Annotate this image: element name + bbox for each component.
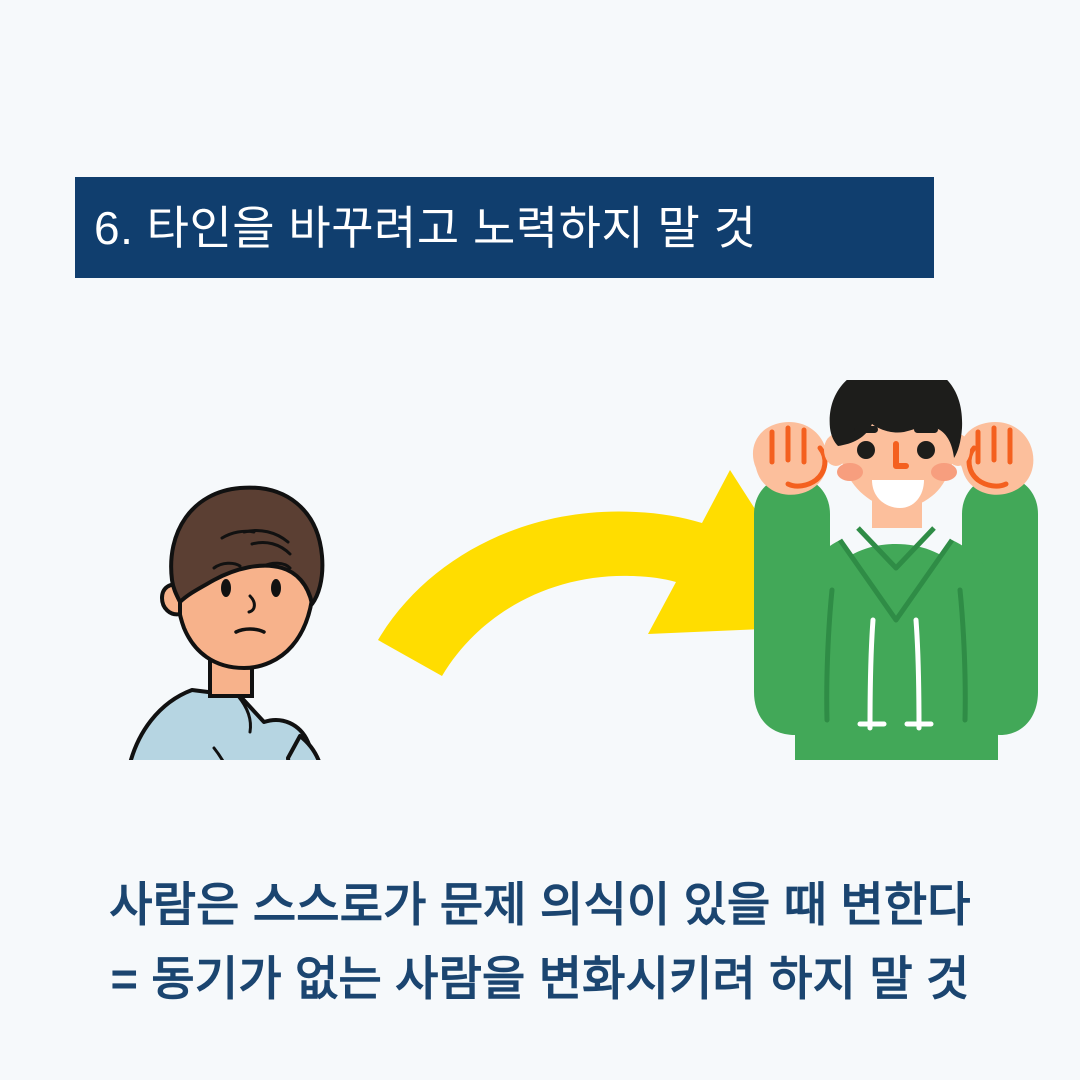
left-figure-eye [271, 579, 281, 597]
caption-block: 사람은 스스로가 문제 의식이 있을 때 변한다 = 동기가 없는 사람을 변화… [0, 868, 1080, 1016]
caption-line-2: = 동기가 없는 사람을 변화시키려 하지 말 것 [0, 942, 1080, 1016]
right-figure-eye [857, 441, 875, 459]
left-figure-eye [221, 579, 231, 597]
page-title: 6. 타인을 바꾸려고 노력하지 말 것 [94, 205, 756, 251]
happy-person-cheering [753, 380, 1080, 760]
caption-line-1: 사람은 스스로가 문제 의식이 있을 때 변한다 [0, 868, 1080, 942]
illustration-svg [0, 380, 1080, 760]
sad-person-sitting [120, 488, 339, 760]
right-figure-eye [917, 441, 935, 459]
title-band: 6. 타인을 바꾸려고 노력하지 말 것 [75, 177, 934, 278]
illustration-area [0, 380, 1080, 760]
card-canvas: 6. 타인을 바꾸려고 노력하지 말 것 [0, 0, 1080, 1080]
